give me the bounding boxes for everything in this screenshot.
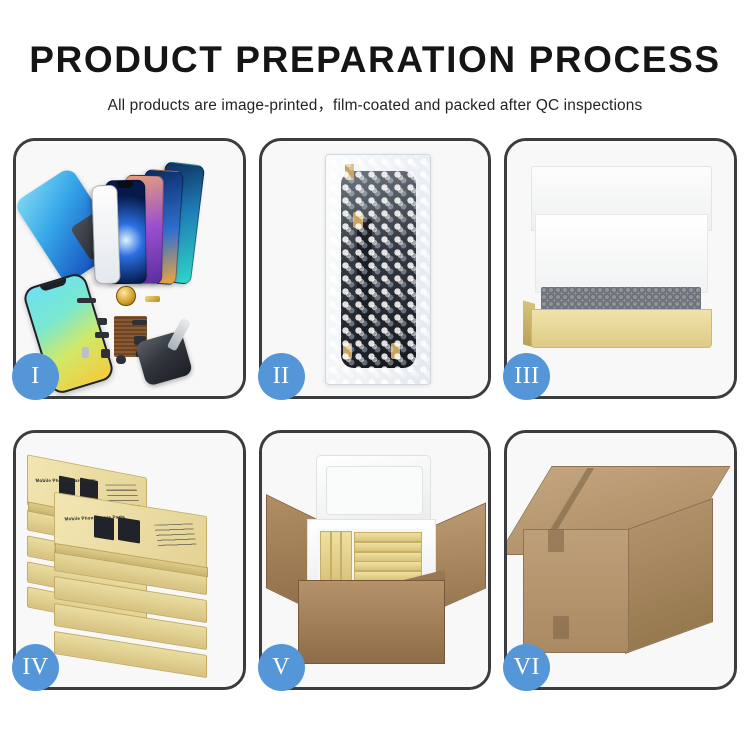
packed-box-6 xyxy=(354,552,423,562)
packed-box-5 xyxy=(354,542,423,552)
product-preparation-infographic: PRODUCT PREPARATION PROCESS All products… xyxy=(0,0,750,750)
box-print-thumb-4 xyxy=(118,517,139,544)
step-panel-1: I xyxy=(13,138,246,399)
step-badge-4: IV xyxy=(12,644,59,691)
step-badge-1: I xyxy=(12,353,59,400)
step-panel-2: II xyxy=(259,138,492,399)
gold-connector-part xyxy=(145,296,160,302)
foam-sheet xyxy=(535,214,709,293)
step-badge-3: III xyxy=(503,353,550,400)
carton-tape-bottom xyxy=(553,616,569,639)
step-panel-5: V xyxy=(259,430,492,691)
process-steps-grid: I II xyxy=(13,138,737,690)
phone-screen-1 xyxy=(91,184,120,284)
box-stack-graphic: Mobile Phone Spare Parts Mobile Phone Sp… xyxy=(27,453,231,667)
step-panel-6: VI xyxy=(504,430,737,691)
styrofoam-interior xyxy=(318,529,422,582)
gold-coil-part xyxy=(116,286,135,306)
packed-box-3 xyxy=(341,531,351,582)
packed-box-1 xyxy=(320,531,330,582)
page-subtitle: All products are image-printed，film-coat… xyxy=(0,93,750,115)
camera-module-part xyxy=(101,349,110,358)
flex-cable-part-2 xyxy=(132,320,147,325)
header: PRODUCT PREPARATION PROCESS All products… xyxy=(0,0,750,115)
phone-screen-fan-graphic xyxy=(93,156,234,283)
step-panel-4: Mobile Phone Spare Parts Mobile Phone Sp… xyxy=(13,430,246,691)
carton-front-face xyxy=(523,529,629,653)
kraft-tray-base xyxy=(531,309,712,348)
packed-box-7 xyxy=(354,561,423,571)
chip-part-2 xyxy=(95,332,109,338)
chip-part-1 xyxy=(97,318,107,325)
bubble-wrap-bag-graphic xyxy=(325,154,431,385)
step-badge-6: VI xyxy=(503,644,550,691)
spare-components-group xyxy=(77,284,186,386)
bubble-texture-layer-2 xyxy=(326,155,430,384)
carton-tape-top xyxy=(548,529,564,552)
step-badge-5: V xyxy=(258,644,305,691)
step-panel-3: III xyxy=(504,138,737,399)
flex-cable-part-1 xyxy=(77,298,95,303)
speaker-part xyxy=(116,355,126,364)
box-label-back: Mobile Phone Spare Parts xyxy=(36,477,97,482)
packed-box-2 xyxy=(331,531,341,582)
open-foam-box-graphic xyxy=(523,166,718,349)
sim-tray-part xyxy=(82,347,90,358)
packed-box-4 xyxy=(354,532,423,542)
box-print-textlines-front xyxy=(154,523,197,547)
styrofoam-lid xyxy=(316,455,431,528)
page-title: PRODUCT PREPARATION PROCESS xyxy=(0,41,750,78)
step-badge-2: II xyxy=(258,353,305,400)
carton-body-front xyxy=(298,580,445,663)
